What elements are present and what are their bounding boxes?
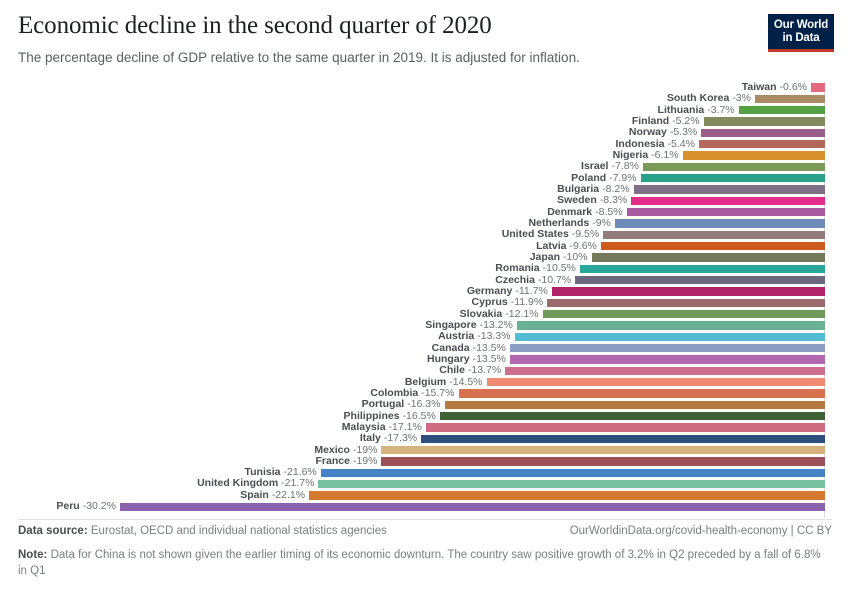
bar[interactable] [592,253,825,261]
bar-row[interactable]: Romania-10.5% [0,263,850,274]
bar-row-inner: Indonesia-5.4% [0,139,850,150]
bar-row[interactable]: Nigeria-6.1% [0,150,850,161]
bar-label-value: -21.7% [281,477,314,489]
bar-row-inner: Germany-11.7% [0,286,850,297]
bar-row[interactable]: Latvia-9.6% [0,241,850,252]
footer-note-text: Data for China is not shown given the ea… [18,549,821,577]
bar[interactable] [603,231,825,239]
bar[interactable] [381,446,825,454]
bar-label-value: -15.7% [421,387,454,399]
bar-row-inner: Austria-13.3% [0,331,850,342]
chart-subtitle: The percentage decline of GDP relative t… [18,50,832,67]
bar-row[interactable]: Singapore-13.2% [0,320,850,331]
bar-label-value: -12.1% [505,308,538,320]
bar-label-country: Colombia [370,387,418,399]
bar-row-inner: Canada-13.5% [0,343,850,354]
bar[interactable] [515,333,825,341]
bar-label-country: Latvia [536,240,566,252]
bar-row[interactable]: United States-9.5% [0,229,850,240]
bar-label-value: -13.2% [480,319,513,331]
bar-label-value: -10% [563,251,588,263]
bar-row-inner: Italy-17.3% [0,433,850,444]
bar-label-country: Malaysia [342,421,386,433]
bar-row-inner: Lithuania-3.7% [0,105,850,116]
bar-row[interactable]: Malaysia-17.1% [0,422,850,433]
bar-row[interactable]: Lithuania-3.7% [0,105,850,116]
bar-label-value: -9% [592,217,611,229]
bar-label-value: -13.5% [473,353,506,365]
bar[interactable] [699,140,825,148]
bar-label-country: Mexico [314,444,350,456]
bar-row-inner: United Kingdom-21.7% [0,478,850,489]
bar-label-value: -10.5% [543,262,576,274]
bar-row-inner: Singapore-13.2% [0,320,850,331]
bar-label: France-19% [316,456,378,467]
bar-label-country: Philippines [344,410,400,422]
bar-label-value: -19% [353,444,378,456]
bar-row-inner: Cyprus-11.9% [0,297,850,308]
bar[interactable] [440,412,825,420]
bar[interactable] [701,129,825,137]
bar-row[interactable]: Hungary-13.5% [0,354,850,365]
bar-label-value: -17.1% [389,421,422,433]
bar-row[interactable]: Italy-17.3% [0,433,850,444]
page-title: Economic decline in the second quarter o… [18,12,832,41]
bar-label-country: Singapore [425,319,476,331]
bar-row-inner: Hungary-13.5% [0,354,850,365]
bar-label-value: -19% [353,455,378,467]
bar-row-inner: France-19% [0,456,850,467]
bar-row-inner: Netherlands-9% [0,218,850,229]
bar-row[interactable]: Poland-7.9% [0,173,850,184]
bar-label-country: Hungary [427,353,470,365]
bar-label-country: United States [502,228,569,240]
bar-label-country: Denmark [547,206,592,218]
bar-row-inner: Peru-30.2% [0,501,850,512]
footer-note: Note: Data for China is not shown given … [18,548,832,579]
bar[interactable] [575,276,825,284]
bar[interactable] [510,344,825,352]
bar-label-country: Romania [495,262,539,274]
bar-label-country: Germany [467,285,513,297]
bar[interactable] [547,299,825,307]
bar-row[interactable]: Czechia-10.7% [0,275,850,286]
bar-label-value: -5.4% [668,138,695,150]
chart-footer: Data source: Eurostat, OECD and individu… [18,524,832,579]
bar-label-country: Italy [360,432,381,444]
bar-label-value: -5.2% [672,115,699,127]
bar-label-value: -17.3% [384,432,417,444]
bar-label-value: -6.1% [651,149,678,161]
bar-label-country: Tunisia [245,466,281,478]
bar-row-inner: United States-9.5% [0,229,850,240]
bar-label-country: Lithuania [658,104,705,116]
bar-row-inner: Japan-10% [0,252,850,263]
bar[interactable] [318,480,825,488]
bar-label-country: Norway [629,126,667,138]
data-source: Data source: Eurostat, OECD and individu… [18,524,387,539]
bar[interactable] [811,83,825,91]
bar[interactable] [643,163,825,171]
bar-label-value: -13.7% [468,364,501,376]
bar-label-country: Peru [56,500,79,512]
bar-label-value: -3% [732,92,751,104]
bar-label-value: -5.3% [670,126,697,138]
bar-label-country: Taiwan [742,81,777,93]
bar[interactable] [631,197,825,205]
bar-row[interactable]: United Kingdom-21.7% [0,478,850,489]
bar-label-value: -0.6% [780,81,807,93]
bar-label-country: Cyprus [472,296,508,308]
bar-row[interactable]: Japan-10% [0,252,850,263]
bar[interactable] [505,367,825,375]
bar[interactable] [634,185,825,193]
bar[interactable] [601,242,825,250]
bar-row-inner: Israel-7.8% [0,161,850,172]
bar-label-country: South Korea [667,92,729,104]
bar-label-country: United Kingdom [197,477,278,489]
bar[interactable] [510,355,825,363]
bar-row[interactable]: Cyprus-11.9% [0,297,850,308]
bar-row-inner: Poland-7.9% [0,173,850,184]
bar[interactable] [487,378,825,386]
bar-label-country: Japan [530,251,560,263]
bar-row-inner: Romania-10.5% [0,263,850,274]
bar[interactable] [627,208,825,216]
bar[interactable] [641,174,825,182]
bar-label-value: -14.5% [449,376,482,388]
bar-row-inner: Denmark-8.5% [0,207,850,218]
bar-label-country: Poland [571,172,606,184]
bar[interactable] [543,310,825,318]
bar-label-country: Chile [439,364,465,376]
bar-row[interactable]: Finland-5.2% [0,116,850,127]
bar-row-inner: Nigeria-6.1% [0,150,850,161]
bar-row-inner: Sweden-8.3% [0,195,850,206]
bar-row[interactable]: Netherlands-9% [0,218,850,229]
bar-row[interactable]: Spain-22.1% [0,490,850,501]
footer-note-label: Note: [18,549,47,561]
bar-label-value: -11.7% [515,285,548,297]
owid-logo-line1: Our World [772,19,830,32]
bar-row-inner: Mexico-19% [0,445,850,456]
footer-divider [18,519,832,520]
bar-label-value: -16.3% [407,398,440,410]
bar-label-value: -9.5% [572,228,599,240]
bar[interactable] [321,469,825,477]
bar-label-value: -8.2% [602,183,629,195]
bar-label-value: -11.9% [511,296,544,308]
bar-label-value: -7.9% [609,172,636,184]
bar-row-inner: Norway-5.3% [0,127,850,138]
bar-label-value: -8.3% [600,194,627,206]
bar-label-value: -3.7% [707,104,734,116]
bar[interactable] [426,423,825,431]
bar[interactable] [580,265,825,273]
bar-label-country: Austria [438,330,474,342]
bar-label-value: -21.6% [283,466,316,478]
bar-label: Peru-30.2% [56,501,116,512]
bar[interactable] [381,457,825,465]
owid-logo-rule [768,49,834,52]
bar-label-value: -16.5% [403,410,436,422]
bar[interactable] [459,389,826,397]
bar-label-country: Netherlands [529,217,590,229]
bar-label-country: France [316,455,350,467]
bar-label-country: Spain [240,489,269,501]
bar-row[interactable]: Denmark-8.5% [0,207,850,218]
footer-source-row: Data source: Eurostat, OECD and individu… [18,524,832,539]
bar-label-value: -8.5% [595,206,622,218]
bar-label-country: Czechia [495,274,535,286]
bar[interactable] [445,401,826,409]
bar-label: Taiwan-0.6% [742,82,807,93]
bar-row-inner: Tunisia-21.6% [0,467,850,478]
bar-chart: Taiwan-0.6%South Korea-3%Lithuania-3.7%F… [0,82,850,518]
bar-label-country: Belgium [405,376,446,388]
bar-label-value: -22.1% [272,489,305,501]
bar-label-country: Finland [632,115,669,127]
bar-row-inner: Czechia-10.7% [0,275,850,286]
bar-label-country: Nigeria [613,149,649,161]
bar-label-country: Sweden [557,194,597,206]
bar[interactable] [615,219,825,227]
bar-row[interactable]: Mexico-19% [0,445,850,456]
bar-row[interactable]: Canada-13.5% [0,343,850,354]
bar-row[interactable]: Austria-13.3% [0,331,850,342]
bar-label-country: Canada [432,342,470,354]
bar[interactable] [552,287,825,295]
chart-header: Economic decline in the second quarter o… [18,12,832,67]
bar[interactable] [517,321,825,329]
bar-label-country: Slovakia [460,308,503,320]
bar-row[interactable]: Sweden-8.3% [0,195,850,206]
owid-url-link[interactable]: OurWorldinData.org/covid-health-economy … [570,524,832,539]
bar-row-inner: Bulgaria-8.2% [0,184,850,195]
bar-label-country: Indonesia [616,138,665,150]
bar-label-value: -30.2% [83,500,116,512]
data-source-text: Eurostat, OECD and individual national s… [91,525,387,537]
chart-page: Economic decline in the second quarter o… [0,0,850,600]
bar-row[interactable]: Norway-5.3% [0,127,850,138]
bar-row-inner: Finland-5.2% [0,116,850,127]
bar-label-value: -7.8% [611,160,638,172]
bar[interactable] [309,491,825,499]
bar-row-inner: Philippines-16.5% [0,411,850,422]
bar[interactable] [683,151,825,159]
bar[interactable] [739,106,825,114]
bar-row[interactable]: Philippines-16.5% [0,411,850,422]
bar-row[interactable]: Indonesia-5.4% [0,139,850,150]
bar-row[interactable]: Tunisia-21.6% [0,467,850,478]
bar-row[interactable]: Germany-11.7% [0,286,850,297]
bar[interactable] [421,435,825,443]
bar[interactable] [755,95,825,103]
bar-label-value: -13.5% [473,342,506,354]
bar-row[interactable]: Bulgaria-8.2% [0,184,850,195]
bar-row-inner: Malaysia-17.1% [0,422,850,433]
bar-row[interactable]: Israel-7.8% [0,161,850,172]
bar-label: Spain-22.1% [240,490,305,501]
owid-logo-box: Our World in Data [768,14,834,49]
bar-label-value: -9.6% [569,240,596,252]
owid-logo[interactable]: Our World in Data [768,14,834,52]
bar-label-country: Bulgaria [557,183,599,195]
bar-row[interactable]: Peru-30.2% [0,501,850,512]
bar-row[interactable]: France-19% [0,456,850,467]
bar-label-country: Israel [581,160,608,172]
bar[interactable] [120,503,825,511]
bar[interactable] [704,117,825,125]
owid-logo-line2: in Data [772,32,830,45]
data-source-label: Data source: [18,525,88,537]
bar-row-inner: Latvia-9.6% [0,241,850,252]
bar-label-value: -13.3% [477,330,510,342]
bar-label-country: Portugal [362,398,405,410]
bar-label-value: -10.7% [538,274,571,286]
bar-row-inner: Spain-22.1% [0,490,850,501]
